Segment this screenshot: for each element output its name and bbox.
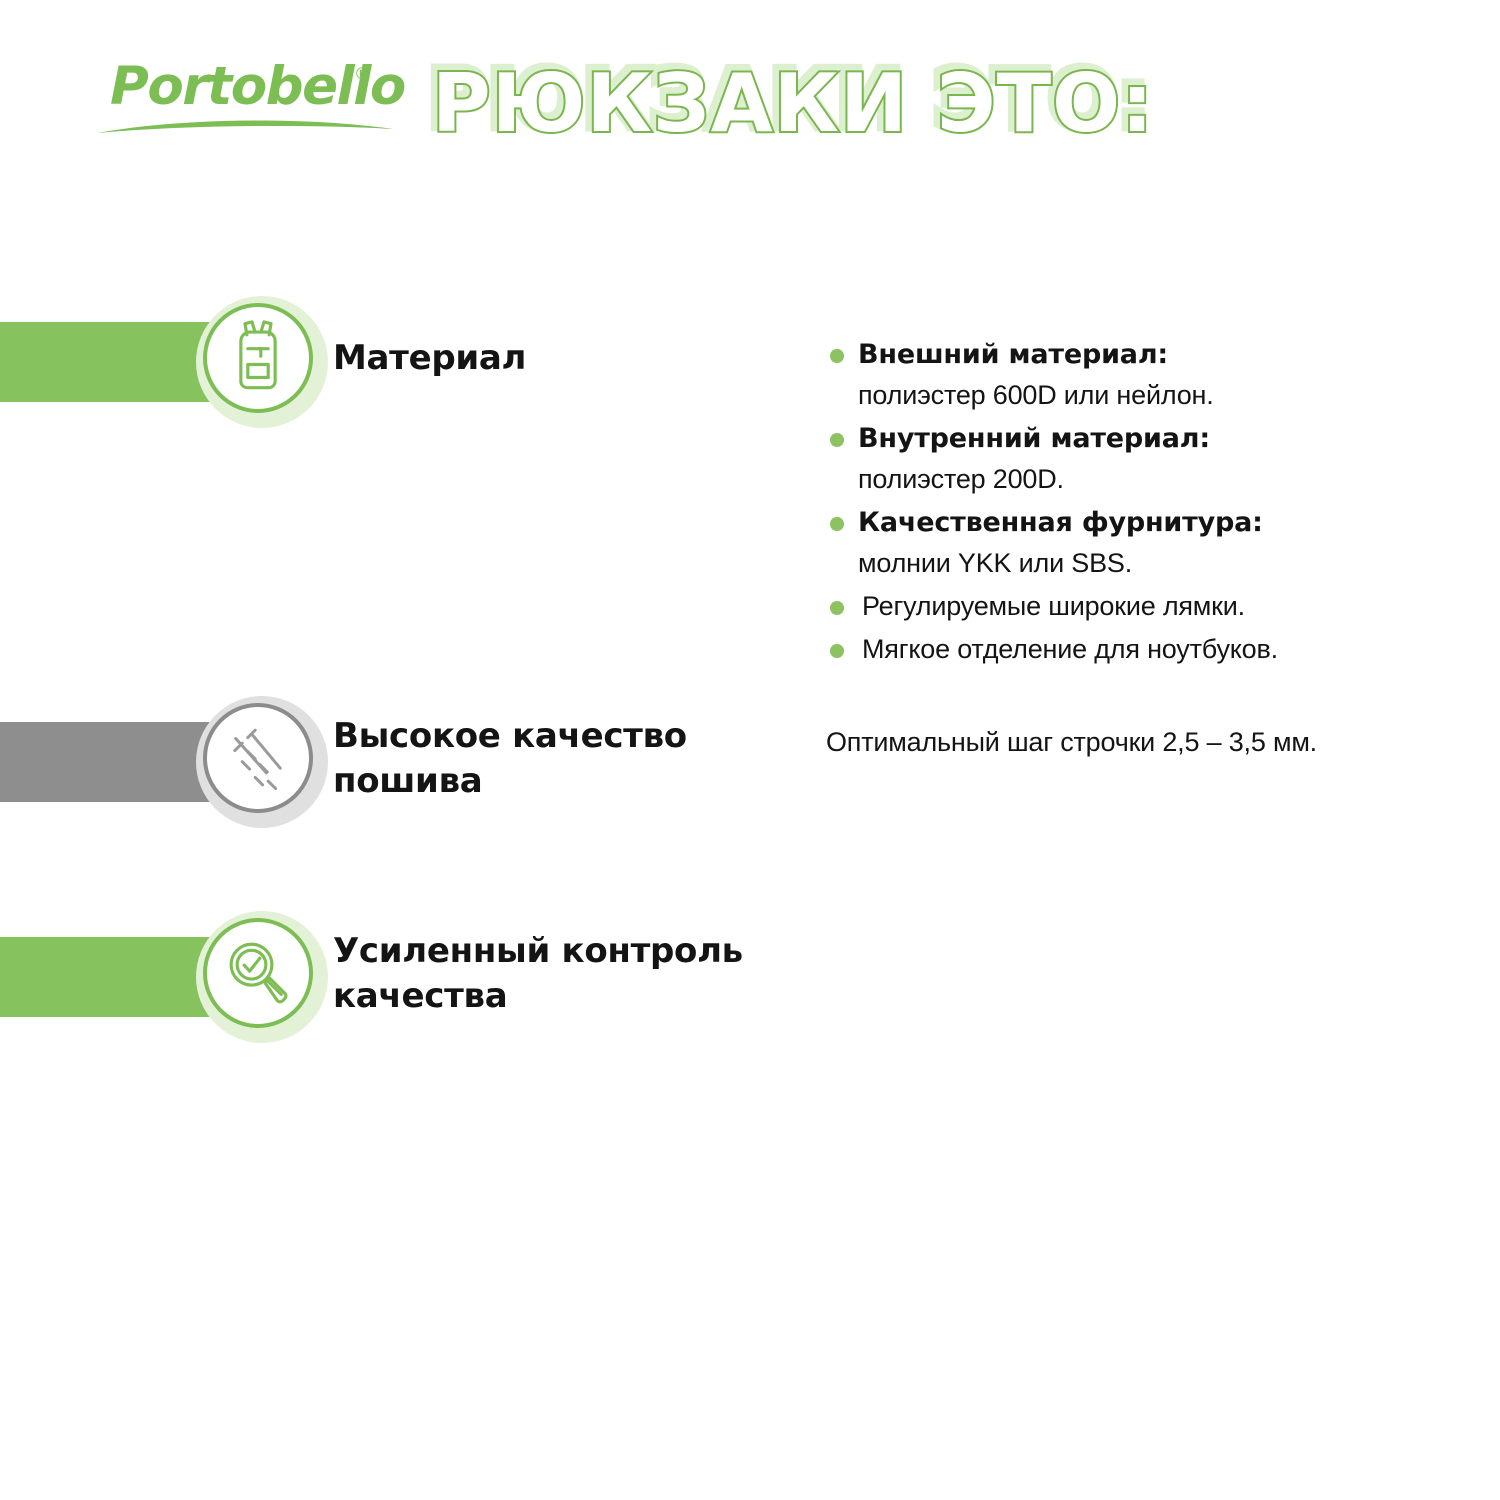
page-title: РЮКЗАКИ ЭТО: РЮКЗАКИ ЭТО: bbox=[432, 54, 1192, 158]
list-item: Внутренний материал: полиэстер 200D. bbox=[826, 418, 1446, 500]
bullet-dot-icon bbox=[830, 644, 844, 658]
feature-title-line1: Усиленный контроль bbox=[333, 931, 743, 971]
stitch-pitch-note: Оптимальный шаг строчки 2,5 – 3,5 мм. bbox=[826, 722, 1466, 762]
bullet-dot-icon bbox=[830, 433, 844, 447]
feature-title-line2: пошива bbox=[333, 761, 482, 801]
brand-logo-swoosh-icon bbox=[95, 115, 395, 137]
feature-bar-green bbox=[0, 322, 218, 402]
feature-bar-gray bbox=[0, 722, 218, 802]
backpack-icon bbox=[207, 307, 309, 409]
page-title-text: РЮКЗАКИ ЭТО: bbox=[432, 54, 1154, 154]
list-item-text: полиэстер 600D или нейлон. bbox=[858, 375, 1446, 416]
feature-icon-circle bbox=[203, 703, 313, 813]
list-item: Мягкое отделение для ноутбуков. bbox=[826, 629, 1446, 670]
list-item-heading: Внутренний материал: bbox=[858, 418, 1446, 459]
feature-title-material: Материал bbox=[333, 336, 793, 381]
list-item: Качественная фурнитура: молнии YKK или S… bbox=[826, 502, 1446, 584]
feature-title-line2: качества bbox=[333, 976, 507, 1016]
feature-icon-circle bbox=[203, 303, 313, 413]
list-item-text: Регулируемые широкие лямки. bbox=[858, 586, 1446, 627]
feature-bar-green bbox=[0, 937, 218, 1017]
list-item-text: полиэстер 200D. bbox=[858, 459, 1446, 500]
feature-icon-circle bbox=[203, 918, 313, 1028]
stitching-icon bbox=[207, 707, 309, 809]
feature-title-quality-control: Усиленный контроль качества bbox=[333, 929, 793, 1019]
list-item: Регулируемые широкие лямки. bbox=[826, 586, 1446, 627]
brand-logo: Portobello ® bbox=[110, 58, 400, 148]
feature-title-line1: Высокое качество bbox=[333, 716, 687, 756]
material-bullet-list: Внешний материал: полиэстер 600D или ней… bbox=[826, 334, 1446, 672]
magnifier-check-icon bbox=[207, 922, 309, 1024]
feature-title-sewing-quality: Высокое качество пошива bbox=[333, 714, 793, 804]
bullet-dot-icon bbox=[830, 517, 844, 531]
list-item-text: молнии YKK или SBS. bbox=[858, 543, 1446, 584]
list-item: Внешний материал: полиэстер 600D или ней… bbox=[826, 334, 1446, 416]
list-item-heading: Качественная фурнитура: bbox=[858, 502, 1446, 543]
list-item-text: Мягкое отделение для ноутбуков. bbox=[858, 629, 1446, 670]
bullet-dot-icon bbox=[830, 349, 844, 363]
page-header: Portobello ® РЮКЗАКИ ЭТО: РЮКЗАКИ ЭТО: bbox=[0, 0, 1500, 180]
bullet-dot-icon bbox=[830, 601, 844, 615]
registered-trademark-icon: ® bbox=[356, 64, 369, 84]
list-item-heading: Внешний материал: bbox=[858, 334, 1446, 375]
